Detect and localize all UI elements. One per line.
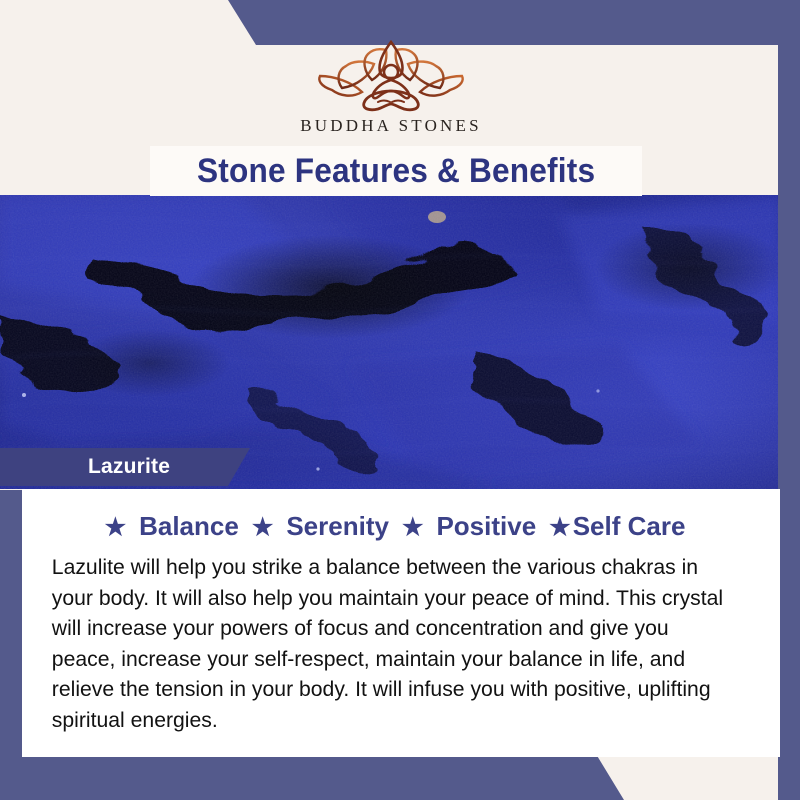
star-icon: ★ [549, 514, 571, 541]
star-icon: ★ [402, 514, 424, 541]
star-icon: ★ [105, 514, 127, 541]
stone-texture-graphic [0, 195, 782, 489]
title-banner: Stone Features & Benefits [150, 146, 642, 196]
keyword-self-care: Self Care [571, 511, 688, 541]
frame-accent-left [0, 490, 22, 800]
lazurite-stone-photo [0, 195, 782, 489]
stone-name: Lazurite [0, 455, 170, 479]
stone-description: Lazulite will help you strike a balance … [38, 552, 743, 735]
stone-info-poster: BUDDHA STONES Stone Features & Benefits … [0, 0, 800, 800]
keyword-serenity: Serenity [284, 511, 391, 541]
page-title: Stone Features & Benefits [197, 152, 595, 191]
brand-name: BUDDHA STONES [300, 116, 482, 136]
brand-header: BUDDHA STONES [0, 40, 782, 145]
keyword-positive: Positive [434, 511, 538, 541]
star-icon: ★ [252, 514, 274, 541]
frame-accent-bottom-left [0, 754, 800, 800]
frame-accent-top-right [0, 0, 800, 45]
lotus-meditation-icon [316, 40, 466, 112]
content-card: ★Balance★Serenity★Positive★Self Care Laz… [22, 489, 780, 757]
stone-name-tag: Lazurite [0, 448, 250, 486]
keyword-balance: Balance [137, 511, 241, 541]
keyword-list: ★Balance★Serenity★Positive★Self Care [38, 511, 754, 542]
